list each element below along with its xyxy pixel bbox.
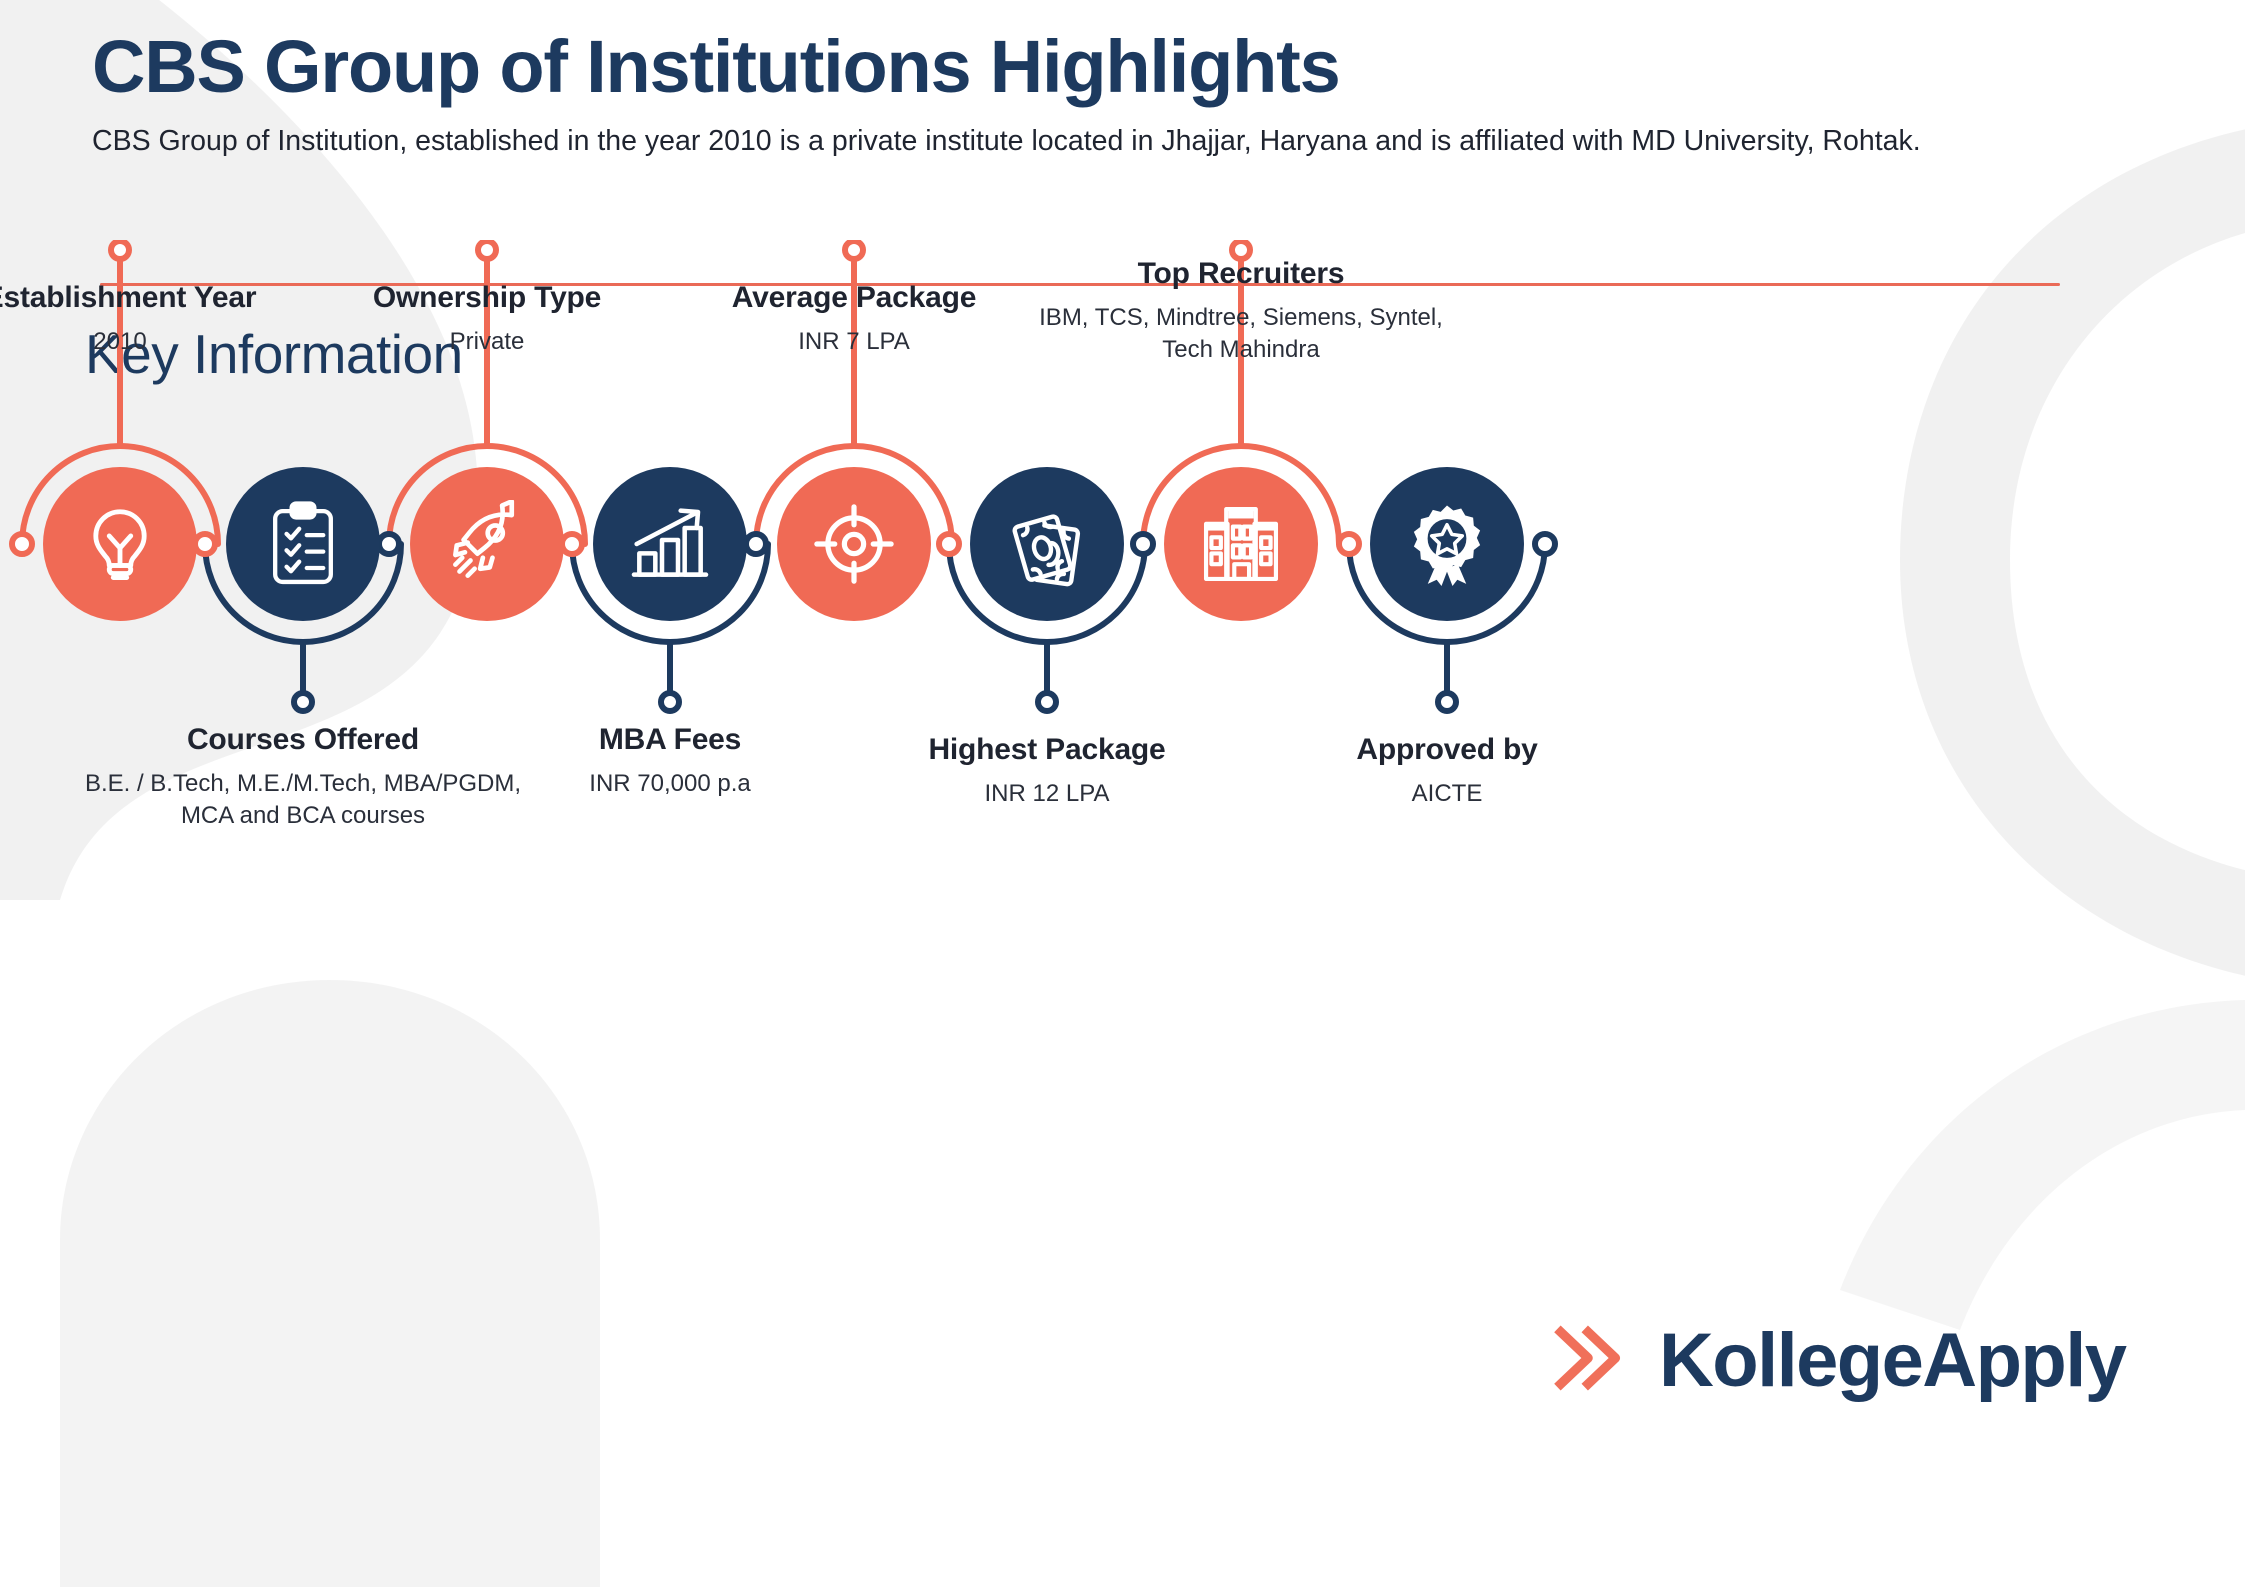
timeline-node-ownership-type[interactable] [410, 467, 564, 621]
timeline-node-courses-offered[interactable] [226, 467, 380, 621]
target-icon [810, 500, 898, 588]
clipboard-icon [263, 501, 343, 587]
label-value: INR 7 LPA [624, 326, 1084, 357]
kollegeapply-logo[interactable]: KollegeApply [1545, 1312, 2125, 1409]
label-title: Top Recruiters [1021, 256, 1461, 293]
label-title: MBA Fees [460, 722, 880, 759]
timeline-node-mba-fees[interactable] [593, 467, 747, 621]
infographic-stage: CBS Group of Institutions Highlights CBS… [0, 0, 2245, 1587]
timeline-node-average-package[interactable] [777, 467, 931, 621]
badge-icon [1403, 500, 1491, 588]
label-average-package: Average Package INR 7 LPA [624, 280, 1084, 357]
label-mba-fees: MBA Fees INR 70,000 p.a [460, 722, 880, 799]
label-value: INR 70,000 p.a [460, 768, 880, 799]
timeline-node-approved-by[interactable] [1370, 467, 1524, 621]
header: CBS Group of Institutions Highlights CBS… [92, 26, 2052, 161]
timeline-node-highest-package[interactable] [970, 467, 1124, 621]
key-information-timeline: Establishment Year 2010 Ownership Type P… [0, 400, 2245, 1160]
label-title: Highest Package [827, 732, 1267, 769]
page-subtitle: CBS Group of Institution, established in… [92, 121, 1942, 161]
label-value: AICTE [1237, 778, 1657, 809]
page-title: CBS Group of Institutions Highlights [92, 26, 2052, 109]
building-icon [1198, 501, 1284, 587]
logo-wordmark: KollegeApply [1659, 1323, 2125, 1399]
lightbulb-icon [77, 501, 163, 587]
timeline-node-top-recruiters[interactable] [1164, 467, 1318, 621]
label-approved-by: Approved by AICTE [1237, 732, 1657, 809]
label-top-recruiters: Top Recruiters IBM, TCS, Mindtree, Sieme… [1021, 256, 1461, 366]
money-icon [1003, 500, 1091, 588]
double-chevron-icon [1545, 1312, 1637, 1409]
label-value: IBM, TCS, Mindtree, Siemens, Syntel, Tec… [1021, 302, 1461, 366]
label-title: Approved by [1237, 732, 1657, 769]
label-value: INR 12 LPA [827, 778, 1267, 809]
timeline-node-establishment-year[interactable] [43, 467, 197, 621]
label-title: Average Package [624, 280, 1084, 317]
bar-chart-icon [626, 502, 714, 586]
rocket-icon [443, 500, 531, 588]
label-highest-package: Highest Package INR 12 LPA [827, 732, 1267, 809]
